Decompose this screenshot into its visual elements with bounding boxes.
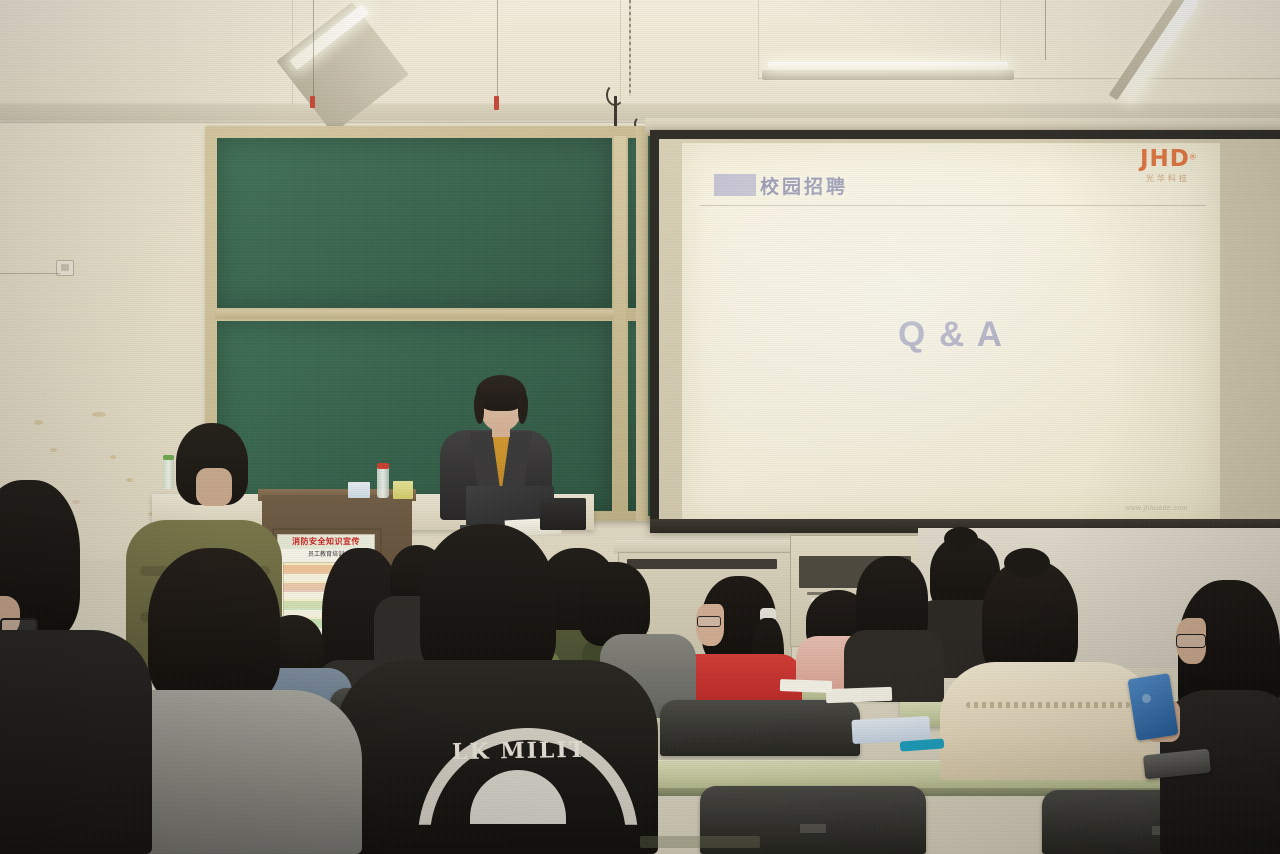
wall-mark bbox=[34, 420, 43, 425]
paper-sheet bbox=[780, 679, 832, 693]
company-logo: JHD® 光华科技 bbox=[1140, 146, 1196, 184]
light-fixture-frame bbox=[762, 70, 1014, 80]
hanging-cord bbox=[313, 0, 314, 104]
student-hair bbox=[148, 548, 280, 704]
water-bottle bbox=[377, 466, 389, 498]
hair-bun bbox=[944, 527, 978, 551]
wall-mark bbox=[126, 478, 133, 482]
cord-clip bbox=[310, 96, 315, 108]
student-body bbox=[940, 662, 1156, 780]
jacket-trim bbox=[966, 702, 1130, 708]
glasses-icon bbox=[1176, 634, 1206, 648]
glasses-icon bbox=[697, 616, 721, 627]
wall-mark bbox=[50, 448, 57, 452]
blackboard bbox=[205, 126, 660, 521]
marker-teal bbox=[900, 738, 945, 751]
hanging-cord bbox=[1045, 0, 1046, 60]
registered-trademark-icon: ® bbox=[1190, 153, 1196, 162]
paper-cup-yellow bbox=[393, 481, 413, 499]
classroom-photo: 校园招聘 Q & A JHD® 光华科技 www.jhhuade.com 消防安… bbox=[0, 0, 1280, 854]
student-neck bbox=[196, 468, 232, 506]
projector-device bbox=[540, 498, 586, 530]
hanging-cord bbox=[497, 0, 498, 102]
slide-url: www.jhhuade.com bbox=[1125, 505, 1188, 512]
jacket-print-text: LK MILITARY bbox=[452, 738, 582, 765]
upper-wall bbox=[0, 0, 1280, 118]
screen-pull-rod[interactable] bbox=[614, 96, 617, 130]
logo-mark: JHD® bbox=[1140, 146, 1196, 172]
cabinet-slot bbox=[627, 559, 777, 569]
wall-conduit bbox=[0, 273, 60, 274]
wall-mark bbox=[72, 500, 80, 504]
seat-back bbox=[660, 700, 860, 756]
blackboard-divider bbox=[215, 310, 615, 319]
wall-seam bbox=[1000, 0, 1001, 60]
wall-mark bbox=[92, 412, 106, 417]
blue-smartphone[interactable] bbox=[1127, 673, 1178, 741]
slide-main-text: Q & A bbox=[682, 315, 1220, 355]
student-body bbox=[0, 630, 152, 854]
paper-sheet bbox=[826, 687, 892, 703]
paper-cup-blue bbox=[348, 482, 370, 498]
bottle-cap-icon bbox=[163, 455, 174, 460]
blackboard-panel-lower bbox=[217, 321, 612, 511]
hair-bun bbox=[1004, 548, 1050, 578]
wall-seam bbox=[758, 0, 759, 78]
desk-shadow bbox=[640, 836, 760, 848]
blackboard-panel-upper bbox=[217, 138, 612, 308]
slide-heading: 校园招聘 bbox=[760, 172, 848, 199]
cord-clip bbox=[494, 96, 499, 110]
bottle-cap-icon bbox=[377, 463, 389, 469]
blackboard-divider-vertical bbox=[614, 136, 626, 511]
wall-mark bbox=[110, 455, 116, 459]
slide-divider bbox=[700, 205, 1206, 206]
student-hair bbox=[420, 524, 556, 682]
ceiling-light-center bbox=[768, 62, 1008, 69]
seat-label bbox=[800, 824, 826, 833]
logo-text: JHD bbox=[1140, 146, 1190, 172]
logo-subtitle: 光华科技 bbox=[1140, 173, 1196, 184]
hanging-chain bbox=[629, 0, 631, 96]
slide-heading-block-icon bbox=[714, 174, 756, 196]
water-bottle-green bbox=[163, 459, 174, 489]
presenter-hair-left bbox=[474, 392, 484, 424]
